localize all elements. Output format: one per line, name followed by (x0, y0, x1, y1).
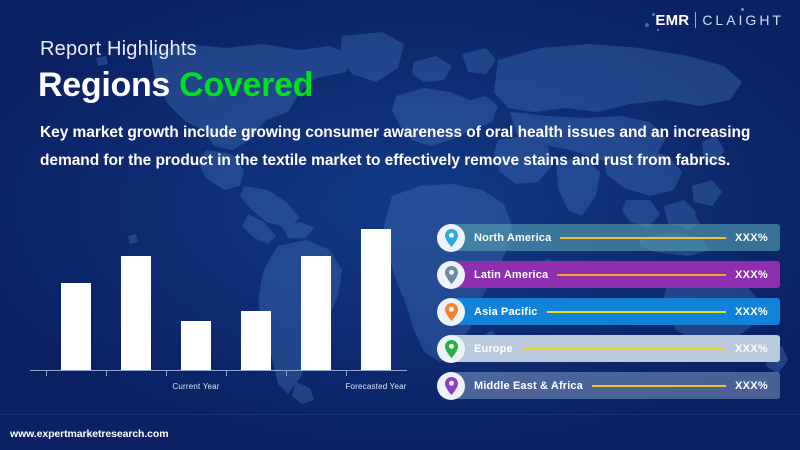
logo-emr-text: EMR (655, 13, 689, 28)
bar-chart-bar (301, 256, 331, 370)
bar-chart-tick (286, 371, 287, 376)
bar-chart-bar (361, 229, 391, 370)
bar-chart-tick (346, 371, 347, 376)
page-title-part2: Covered (179, 66, 313, 104)
subtitle-text: Key market growth include growing consum… (40, 119, 766, 174)
map-pin-icon (437, 298, 465, 326)
bar-chart-tick (226, 371, 227, 376)
bar-chart-bar (61, 283, 91, 370)
footer-divider (0, 414, 800, 415)
region-connector-line (547, 311, 726, 313)
region-value: XXX% (735, 232, 768, 244)
logo-claight-text: CLAIGHT (702, 13, 784, 27)
map-pin-icon (437, 261, 465, 289)
footer-url: www.expertmarketresearch.com (10, 428, 168, 440)
region-row[interactable]: Middle East & AfricaXXX% (437, 372, 780, 399)
region-legend: North AmericaXXX%Latin AmericaXXX%Asia P… (437, 224, 780, 399)
region-row[interactable]: EuropeXXX% (437, 335, 780, 362)
map-pin-icon (437, 335, 465, 363)
bar-chart-axis-label: Forecasted Year (345, 382, 406, 391)
region-value: XXX% (735, 306, 768, 318)
slide-root: EMR CLAIGHT Report Highlights Regions Co… (0, 0, 800, 450)
eyebrow-text: Report Highlights (40, 38, 197, 61)
map-pin-icon (437, 372, 465, 400)
bar-chart-axis (30, 370, 407, 371)
region-row[interactable]: Asia PacificXXX% (437, 298, 780, 325)
logo-dot-icon (741, 8, 744, 11)
bar-chart-axis-label: Current Year (172, 382, 219, 391)
bar-chart-plot-area (24, 218, 414, 370)
region-name: Middle East & Africa (474, 380, 583, 392)
bar-chart-bar (241, 311, 271, 370)
region-name: North America (474, 232, 551, 244)
region-connector-line (557, 274, 726, 276)
map-pin-icon (437, 224, 465, 252)
page-title-part1: Regions (38, 66, 179, 104)
region-connector-line (592, 385, 726, 387)
logo-dot-icon (657, 29, 659, 31)
region-name: Latin America (474, 269, 548, 281)
bar-chart-tick (166, 371, 167, 376)
region-value: XXX% (735, 269, 768, 281)
bar-chart-bar (121, 256, 151, 370)
bar-chart-tick (106, 371, 107, 376)
logo-divider (695, 12, 696, 28)
region-row[interactable]: North AmericaXXX% (437, 224, 780, 251)
brand-logo: EMR CLAIGHT (655, 9, 784, 31)
region-connector-line (560, 237, 726, 239)
region-name: Asia Pacific (474, 306, 538, 318)
page-title: Regions Covered (38, 66, 313, 104)
logo-dot-icon (645, 23, 649, 27)
region-value: XXX% (735, 380, 768, 392)
region-value: XXX% (735, 343, 768, 355)
bar-chart: Current YearForecasted Year (24, 214, 414, 392)
bar-chart-bar (181, 321, 211, 370)
region-row[interactable]: Latin AmericaXXX% (437, 261, 780, 288)
region-connector-line (522, 348, 726, 350)
region-name: Europe (474, 343, 513, 355)
bar-chart-tick (46, 371, 47, 376)
